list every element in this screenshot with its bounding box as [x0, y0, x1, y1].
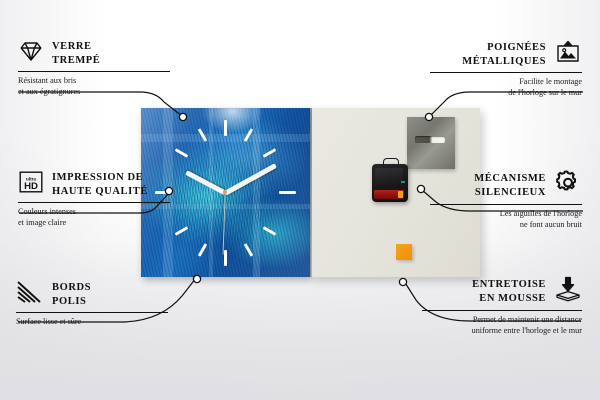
- wire-dot-verre-trempe: [179, 113, 186, 120]
- feature-title-line1: VERRE: [52, 40, 100, 54]
- infographic-canvas: VERRE TREMPÉ Résistant aux bris et aux é…: [0, 0, 600, 400]
- feature-sub-line2: et aux égratignures: [18, 86, 170, 97]
- wire-dot-mecanisme: [417, 185, 424, 192]
- ultra-hd-icon: ultra HD: [18, 170, 44, 199]
- feature-sub-line1: Résistant aux bris: [18, 75, 170, 86]
- feature-sub-line1: Surface lisse et sûre: [16, 316, 168, 327]
- feature-divider: [18, 202, 170, 203]
- feature-title-line2: HAUTE QUALITÉ: [52, 185, 148, 199]
- feature-title-line1: BORDS: [52, 281, 91, 295]
- feature-sub-line1: Couleurs intenses: [18, 206, 170, 217]
- feature-sub-line2: de l'horloge sur le mur: [430, 87, 582, 98]
- feature-mecanisme-silencieux: MÉCANISME SILENCIEUX Les aiguilles de l'…: [430, 170, 582, 231]
- foam-spacer-arrow-icon: [554, 276, 582, 307]
- feature-poignees-metalliques: POIGNÉES MÉTALLIQUES Facilite le montage…: [430, 40, 582, 99]
- feature-divider: [422, 310, 582, 311]
- polished-edges-icon: [16, 280, 44, 309]
- feature-divider: [430, 204, 582, 205]
- ultra-hd-big-label: HD: [24, 181, 38, 192]
- wire-dot-bords-polis: [193, 275, 200, 282]
- feature-sub-line1: Facilite le montage: [430, 76, 582, 87]
- feature-verre-trempe: VERRE TREMPÉ Résistant aux bris et aux é…: [18, 40, 170, 98]
- feature-title-line2: SILENCIEUX: [474, 186, 546, 200]
- feature-divider: [18, 71, 170, 72]
- feature-sub-line2: et image claire: [18, 217, 170, 228]
- wire-dot-entretoise: [399, 278, 406, 285]
- feature-title-line1: POIGNÉES: [462, 41, 546, 55]
- feature-sub-line1: Les aiguilles de l'horloge: [430, 208, 582, 219]
- feature-divider: [430, 72, 582, 73]
- hanging-picture-frame-icon: [554, 40, 582, 69]
- feature-sub-line2: uniforme entre l'horloge et le mur: [422, 325, 582, 336]
- wire-dot-poignees: [425, 113, 432, 120]
- feature-sub-line1: Permet de maintenir une distance: [422, 314, 582, 325]
- gear-icon: [554, 170, 582, 201]
- feature-title-line2: TREMPÉ: [52, 54, 100, 68]
- feature-title-line1: ENTRETOISE: [472, 278, 546, 292]
- feature-title-line1: IMPRESSION DE: [52, 171, 148, 185]
- feature-impression-haute-qualite: ultra HD IMPRESSION DE HAUTE QUALITÉ Cou…: [18, 170, 170, 229]
- diamond-icon: [18, 40, 44, 67]
- feature-title-line2: EN MOUSSE: [472, 292, 546, 306]
- feature-entretoise-en-mousse: ENTRETOISE EN MOUSSE Permet de maintenir…: [422, 276, 582, 337]
- feature-bords-polis: BORDS POLIS Surface lisse et sûre: [16, 280, 168, 327]
- feature-title-line2: MÉTALLIQUES: [462, 55, 546, 69]
- feature-title-line1: MÉCANISME: [474, 172, 546, 186]
- feature-sub-line2: ne font aucun bruit: [430, 219, 582, 230]
- feature-divider: [16, 312, 168, 313]
- feature-title-line2: POLIS: [52, 295, 91, 309]
